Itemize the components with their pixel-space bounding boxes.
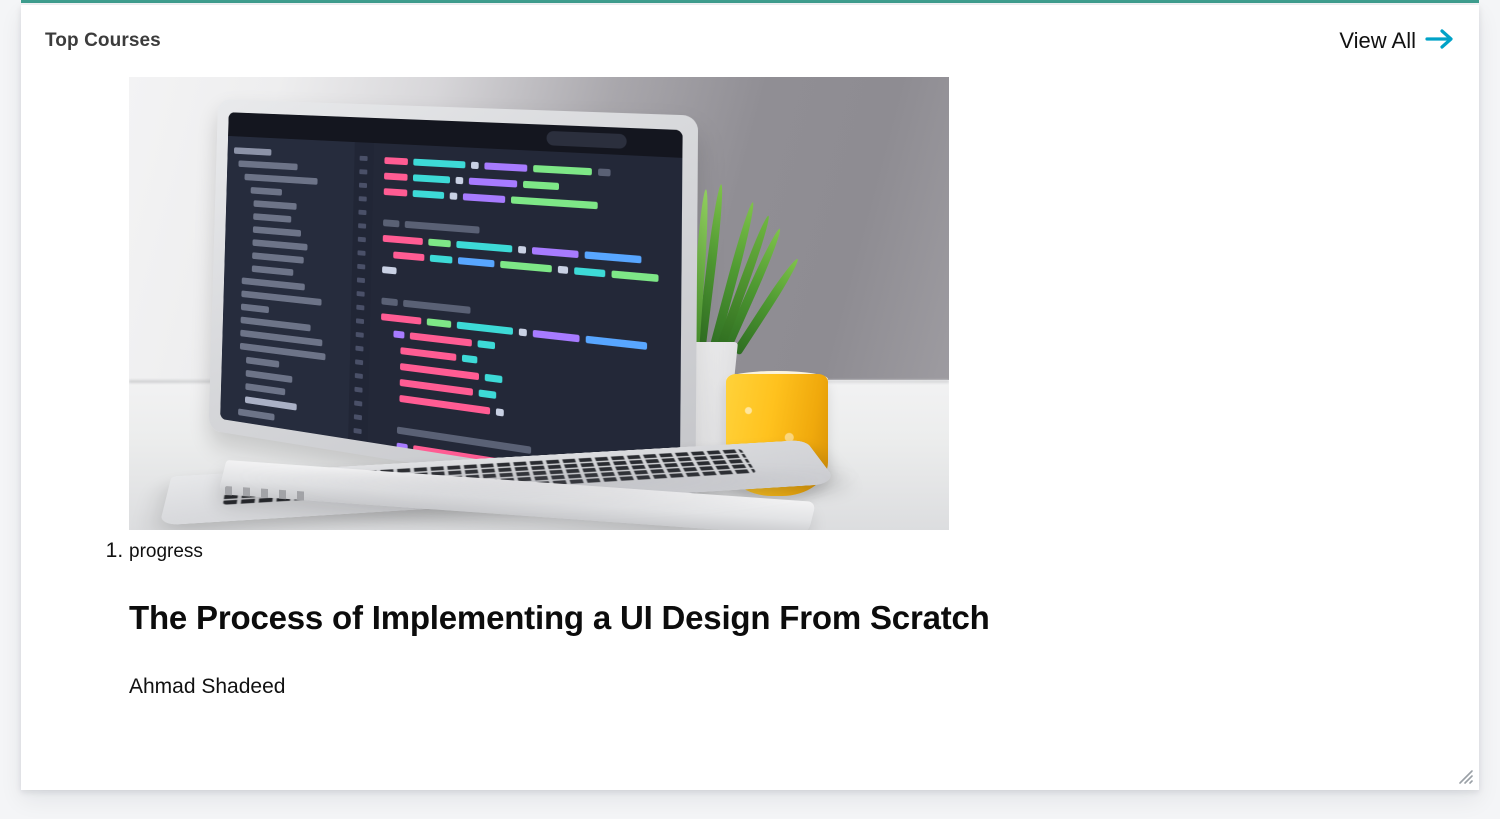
arrow-right-icon xyxy=(1425,28,1455,55)
card-header: Top Courses View All xyxy=(21,5,1479,77)
course-author: Ahmad Shadeed xyxy=(129,675,1445,699)
previous-card-sliver xyxy=(21,0,1479,3)
view-all-button[interactable]: View All xyxy=(1339,28,1455,55)
course-progress-label: progress xyxy=(129,541,1445,563)
courses-list: progress The Process of Implementing a U… xyxy=(85,77,1445,699)
course-thumbnail[interactable] xyxy=(129,77,949,530)
view-all-label: View All xyxy=(1339,30,1416,52)
resize-grip-icon[interactable] xyxy=(1456,767,1474,785)
thumbnail-blur-overlay xyxy=(129,77,949,530)
page-title: Top Courses xyxy=(45,30,161,52)
course-title[interactable]: The Process of Implementing a UI Design … xyxy=(129,599,1445,637)
top-courses-card: Top Courses View All xyxy=(21,5,1479,790)
list-item[interactable]: progress The Process of Implementing a U… xyxy=(129,77,1445,699)
